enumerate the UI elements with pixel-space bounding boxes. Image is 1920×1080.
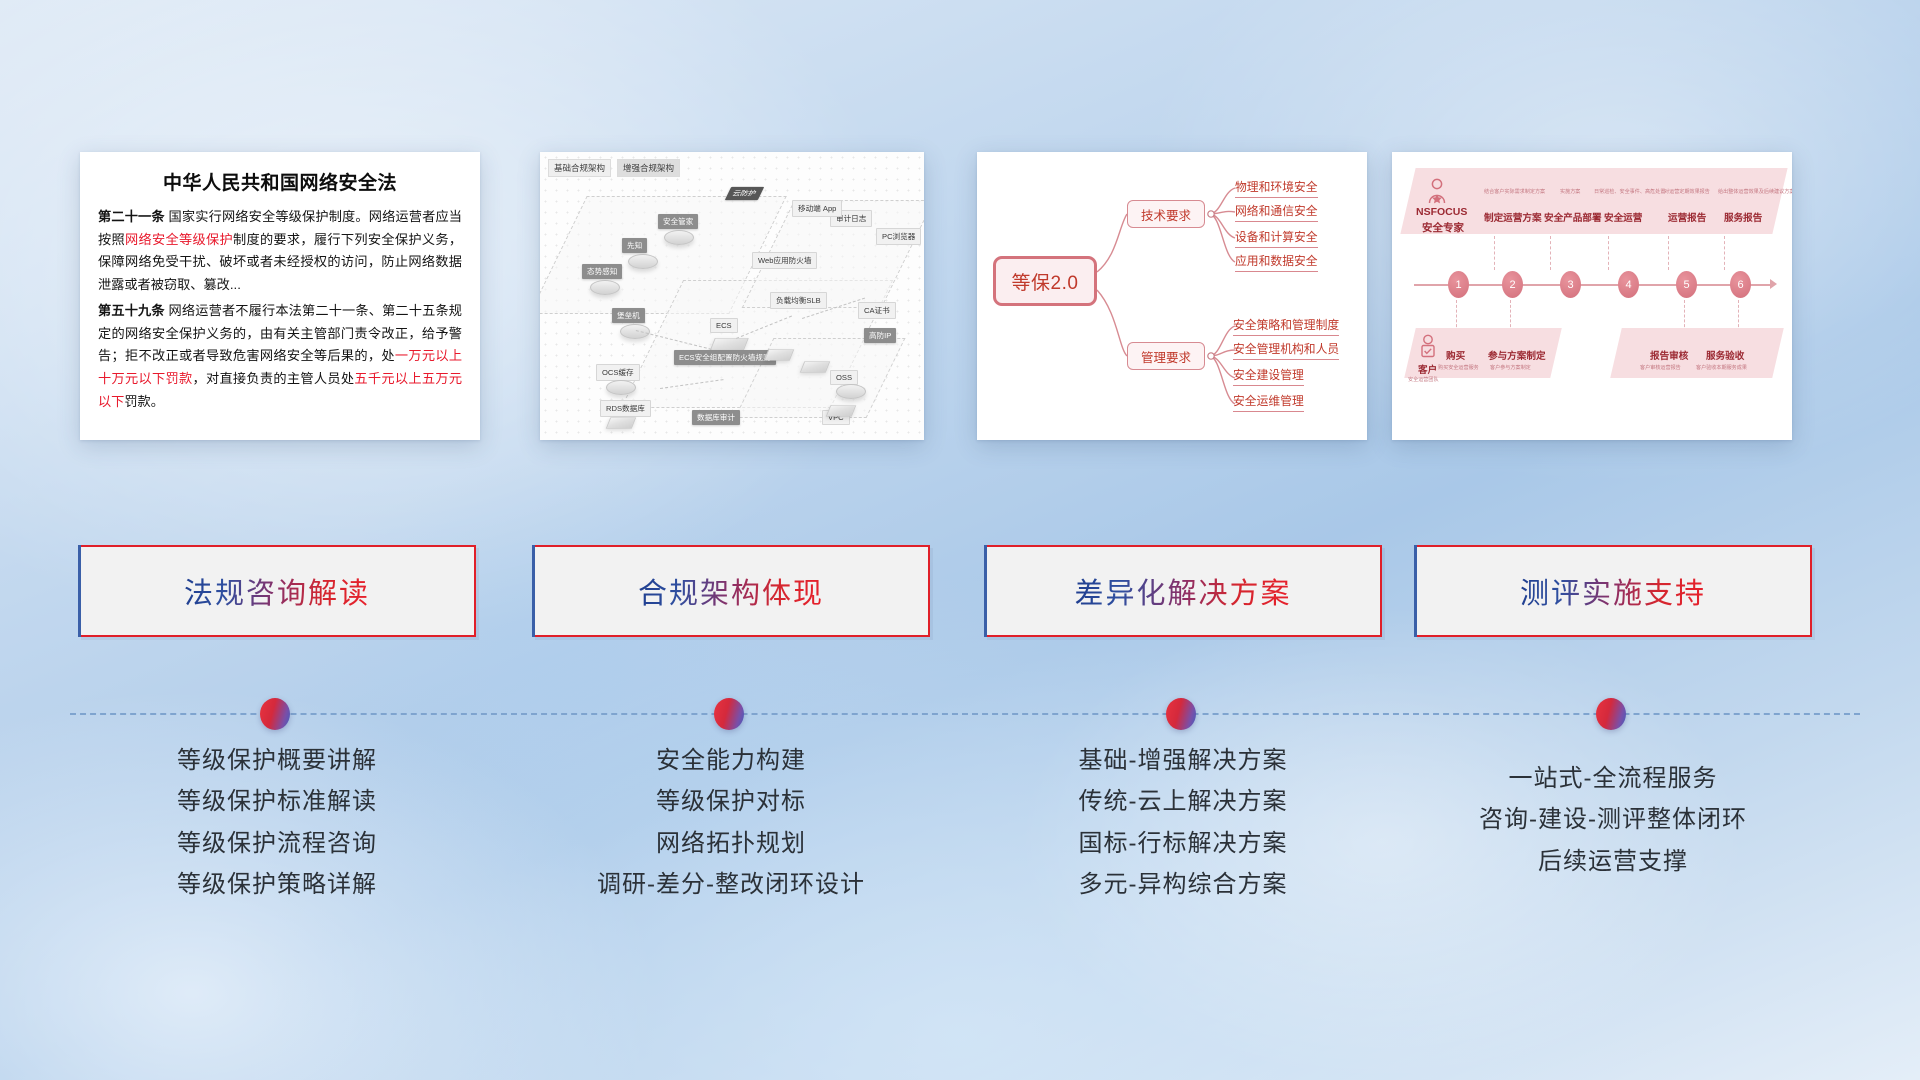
provider-step-4-main: 运营报告 (1668, 210, 1706, 224)
headline-box-compliance-architecture[interactable]: 合规架构体现 (532, 545, 930, 637)
tick-step-4 (1668, 236, 1669, 270)
law-article-21-label: 第二十一条 (98, 209, 165, 224)
law-article-59-text-b: ，对直接负责的主管人员处 (192, 371, 354, 386)
headline-label-4: 测评实施支持 (1520, 570, 1706, 612)
architecture-canvas: 基础合规架构 增强合规架构 云防护 安全管家 先知 态势感知 堡垒机 ECS E… (540, 152, 924, 440)
cube-ecs-3 (800, 361, 831, 372)
card-mindmap[interactable]: 等保2.0 技术要求 物理和环境安全 网络和通信安全 设备和计算安全 应用和数据… (977, 152, 1367, 440)
disc-situation-awareness (590, 280, 620, 295)
headline-row: 法规咨询解读 合规架构体现 差异化解决方案 测评实施支持 (0, 545, 1920, 637)
cube-vpc (826, 405, 857, 416)
timeline-dot-4[interactable] (1596, 698, 1626, 730)
customer-step-2-sub: 客户参与方案制定 (1490, 364, 1531, 371)
list-item: 安全能力构建 (532, 740, 930, 781)
customer-step-4-sub: 客户验收本期服务成果 (1696, 364, 1747, 371)
list-item: 等级保护策略详解 (78, 864, 476, 905)
list-item: 一站式-全流程服务 (1414, 758, 1812, 799)
cube-ecs-2 (764, 349, 795, 360)
detail-list-1: 等级保护概要讲解 等级保护标准解读 等级保护流程咨询 等级保护策略详解 (78, 740, 476, 905)
node-oss: OSS (830, 370, 858, 385)
timeline-arrow-icon (1770, 279, 1777, 289)
preview-cards-row: 中华人民共和国网络安全法 第二十一条 国家实行网络安全等级保护制度。网络运营者应… (0, 152, 1920, 446)
disc-security-butler (664, 230, 694, 245)
customer-title: 客户 (1418, 362, 1437, 376)
mindmap-leaf-construction-mgmt[interactable]: 安全建设管理 (1233, 366, 1304, 386)
headline-box-differentiated-solution[interactable]: 差异化解决方案 (984, 545, 1382, 637)
node-situation-awareness: 态势感知 (582, 264, 622, 279)
tick-step-5 (1724, 236, 1725, 270)
card-architecture-diagram[interactable]: 基础合规架构 增强合规架构 云防护 安全管家 先知 态势感知 堡垒机 ECS E… (540, 152, 924, 440)
tick-step-1 (1494, 236, 1495, 270)
customer-step-1-sub: 购买安全运营服务 (1438, 364, 1479, 371)
timeline-dot-2[interactable] (714, 698, 744, 730)
list-item: 国标-行标解决方案 (984, 823, 1382, 864)
node-ca-certificate: CA证书 (858, 302, 896, 319)
headline-box-regulation-consulting[interactable]: 法规咨询解读 (78, 545, 476, 637)
mindmap-leaf-physical-environment[interactable]: 物理和环境安全 (1235, 178, 1318, 198)
timeline-dot-3[interactable] (1166, 698, 1196, 730)
customer-step-3-sub: 客户审核运营报告 (1640, 364, 1681, 371)
list-item: 等级保护流程咨询 (78, 823, 476, 864)
provider-step-1-main: 制定运营方案 (1484, 210, 1542, 224)
mindmap-leaf-network-communication[interactable]: 网络和通信安全 (1235, 202, 1318, 222)
provider-step-5-main: 服务报告 (1724, 210, 1762, 224)
mindmap-leaf-operation-mgmt[interactable]: 安全运维管理 (1233, 392, 1304, 412)
law-article-21-highlight: 网络安全等级保护 (125, 232, 233, 247)
node-database-audit: 数据库审计 (692, 410, 740, 425)
law-body: 中华人民共和国网络安全法 第二十一条 国家实行网络安全等级保护制度。网络运营者应… (80, 152, 480, 426)
node-load-balancer-slb: 负载均衡SLB (770, 292, 827, 309)
law-article-59-label: 第五十九条 (98, 303, 165, 318)
mindmap-branch-technical[interactable]: 技术要求 (1127, 200, 1205, 228)
provider-step-5-sub: 给出整体运营效果及后续建议方案 (1718, 188, 1792, 195)
provider-title: NSFOCUS (1416, 206, 1467, 218)
timeline-connector (70, 694, 1860, 734)
customer-subtitle: 安全运营团队 (1408, 376, 1439, 383)
disc-xianzhi (628, 254, 658, 269)
mindmap-leaf-org-personnel[interactable]: 安全管理机构和人员 (1233, 340, 1339, 360)
flow-step-5[interactable]: 5 (1676, 271, 1697, 298)
list-item: 后续运营支撑 (1414, 841, 1812, 882)
law-title: 中华人民共和国网络安全法 (98, 168, 462, 195)
list-item: 多元-异构综合方案 (984, 864, 1382, 905)
customer-step-3-main: 报告审核 (1650, 348, 1688, 362)
flow-step-3[interactable]: 3 (1560, 271, 1581, 298)
tab-enhanced-architecture[interactable]: 增强合规架构 (617, 159, 680, 177)
list-item: 等级保护概要讲解 (78, 740, 476, 781)
tick-step-2 (1550, 236, 1551, 270)
headline-label-1: 法规咨询解读 (184, 570, 370, 612)
timeline-dot-1[interactable] (260, 698, 290, 730)
mindmap-root-node[interactable]: 等保2.0 (993, 256, 1097, 306)
detail-list-4: 一站式-全流程服务 咨询-建设-测评整体闭环 后续运营支撑 (1414, 758, 1812, 882)
mindmap-leaf-application-data[interactable]: 应用和数据安全 (1235, 252, 1318, 272)
headline-label-3: 差异化解决方案 (1074, 570, 1291, 612)
node-bastion-host: 堡垒机 (612, 308, 645, 323)
mindmap-leaf-device-computing[interactable]: 设备和计算安全 (1235, 228, 1318, 248)
person-star-icon (1426, 178, 1448, 209)
person-check-icon (1418, 334, 1438, 363)
provider-step-1-sub: 结合客户实际需求制定方案 (1484, 188, 1545, 195)
customer-step-4-main: 服务验收 (1706, 348, 1744, 362)
provider-step-3-sub: 日常巡检、安全事件、高危处置 (1594, 188, 1665, 195)
tick-step-3 (1608, 236, 1609, 270)
node-rds-database: RDS数据库 (600, 400, 651, 417)
headline-label-2: 合规架构体现 (638, 570, 824, 612)
node-cloud-shield: 云防护 (725, 187, 764, 200)
mindmap-canvas: 等保2.0 技术要求 物理和环境安全 网络和通信安全 设备和计算安全 应用和数据… (977, 152, 1367, 440)
flow-step-6[interactable]: 6 (1730, 271, 1751, 298)
list-item: 咨询-建设-测评整体闭环 (1414, 799, 1812, 840)
headline-box-assessment-support[interactable]: 测评实施支持 (1414, 545, 1812, 637)
list-item: 基础-增强解决方案 (984, 740, 1382, 781)
flow-step-1[interactable]: 1 (1448, 271, 1469, 298)
provider-step-2-sub: 实施方案 (1560, 188, 1580, 195)
law-article-21: 第二十一条 国家实行网络安全等级保护制度。网络运营者应当按照网络安全等级保护制度… (98, 206, 462, 297)
detail-list-3: 基础-增强解决方案 传统-云上解决方案 国标-行标解决方案 多元-异构综合方案 (984, 740, 1382, 905)
customer-step-1-main: 购买 (1446, 348, 1465, 362)
tab-basic-architecture[interactable]: 基础合规架构 (548, 159, 611, 177)
node-anti-ddos-ip: 高防IP (864, 328, 896, 343)
collapse-handle-mgmt (1208, 353, 1214, 359)
list-item: 传统-云上解决方案 (984, 781, 1382, 822)
law-article-59-text-c: 罚款。 (124, 394, 164, 409)
list-item: 网络拓扑规划 (532, 823, 930, 864)
list-item: 等级保护对标 (532, 781, 930, 822)
disc-oss (836, 384, 866, 399)
node-web-application-firewall: Web应用防火墙 (752, 252, 817, 269)
list-item: 调研-差分-整改闭环设计 (532, 864, 930, 905)
service-flow-canvas: NSFOCUS 安全专家 结合客户实际需求制定方案 制定运营方案 实施方案 安全… (1392, 152, 1792, 440)
node-pc-browser: PC浏览器 (876, 228, 921, 245)
flow-step-2[interactable]: 2 (1502, 271, 1523, 298)
collapse-handle-tech (1208, 211, 1214, 217)
provider-step-3-main: 安全运营 (1604, 210, 1642, 224)
detail-list-2: 安全能力构建 等级保护对标 网络拓扑规划 调研-差分-整改闭环设计 (532, 740, 930, 905)
detail-lists-row: 等级保护概要讲解 等级保护标准解读 等级保护流程咨询 等级保护策略详解 安全能力… (0, 740, 1920, 990)
card-service-flow[interactable]: NSFOCUS 安全专家 结合客户实际需求制定方案 制定运营方案 实施方案 安全… (1392, 152, 1792, 440)
customer-step-2-main: 参与方案制定 (1488, 348, 1546, 362)
node-security-butler: 安全管家 (658, 214, 698, 229)
node-security-guard: ECS安全组配置防火墙规则 (674, 350, 776, 365)
law-article-59: 第五十九条 网络运营者不履行本法第二十一条、第二十五条规定的网络安全保护义务的，… (98, 300, 462, 414)
flow-step-4[interactable]: 4 (1618, 271, 1639, 298)
provider-step-4-sub: 对运营定期效果报告 (1664, 188, 1710, 195)
disc-ocs-cache (606, 380, 636, 395)
card-law-document[interactable]: 中华人民共和国网络安全法 第二十一条 国家实行网络安全等级保护制度。网络运营者应… (80, 152, 480, 440)
node-xianzhi: 先知 (622, 238, 647, 253)
mindmap-leaf-policy-system[interactable]: 安全策略和管理制度 (1233, 316, 1339, 336)
node-mobile-app: 移动端 App (792, 200, 842, 217)
list-item: 等级保护标准解读 (78, 781, 476, 822)
mindmap-branch-management[interactable]: 管理要求 (1127, 342, 1205, 370)
timeline-dashed-line (70, 713, 1860, 715)
provider-subtitle: 安全专家 (1422, 220, 1464, 235)
cube-rds (606, 417, 637, 428)
provider-step-2-main: 安全产品部署 (1544, 210, 1602, 224)
node-ecs: ECS (710, 318, 738, 333)
architecture-tabs: 基础合规架构 增强合规架构 (548, 159, 680, 177)
node-ocs-cache: OCS缓存 (596, 364, 640, 381)
